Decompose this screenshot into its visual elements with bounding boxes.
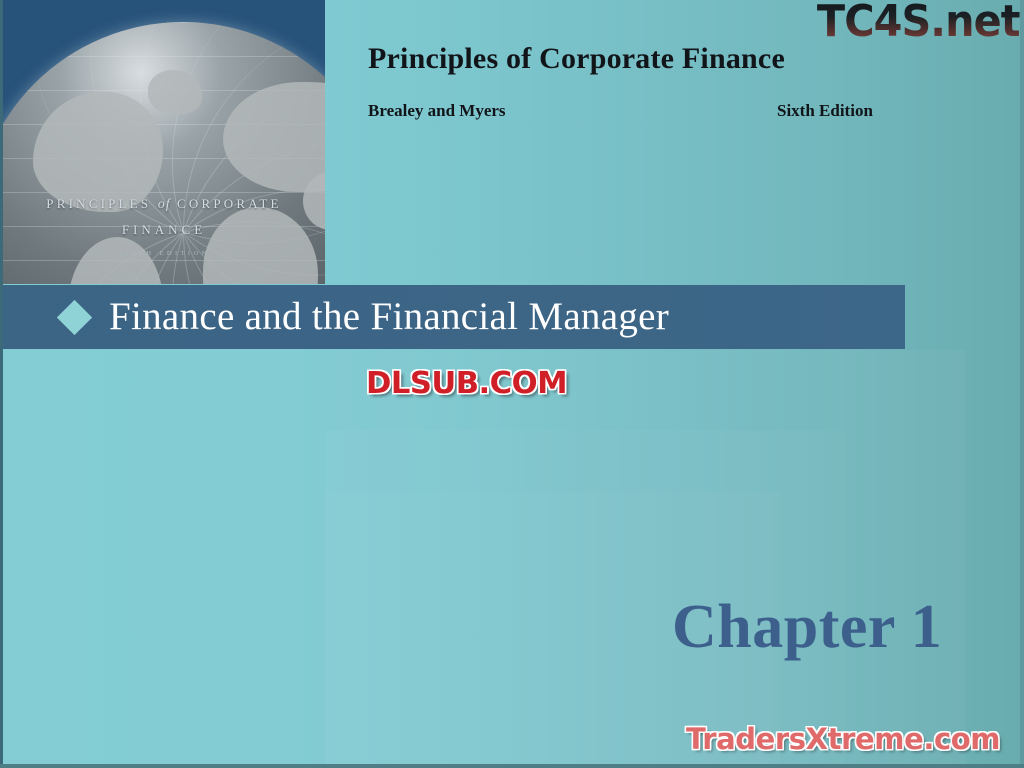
landmass-greenland [148, 70, 202, 114]
book-authors: Brealey and Myers [368, 101, 506, 121]
diamond-bullet-icon [57, 299, 92, 334]
slide-edge-bottom [0, 764, 1024, 768]
book-title: Principles of Corporate Finance [368, 42, 785, 76]
presentation-slide: PRINCIPLES of CORPORATE FINANCE SIXTH ED… [0, 0, 1024, 768]
globe-graphic [3, 22, 325, 284]
slide-edge-right [1020, 0, 1024, 768]
watermark-tradersxtreme: TradersXtreme.com [686, 722, 1000, 756]
book-edition: Sixth Edition [777, 101, 873, 121]
slide-title: Finance and the Financial Manager [109, 297, 669, 336]
background-block-left [0, 350, 325, 768]
chapter-label: Chapter 1 [672, 592, 942, 663]
watermark-dlsub: DLSUB.COM [366, 366, 567, 401]
watermark-tc4s: TC4S.net [817, 0, 1020, 47]
slide-edge-left [0, 0, 3, 768]
slide-title-bar: Finance and the Financial Manager [0, 285, 905, 349]
book-cover-image: PRINCIPLES of CORPORATE FINANCE SIXTH ED… [3, 0, 325, 284]
